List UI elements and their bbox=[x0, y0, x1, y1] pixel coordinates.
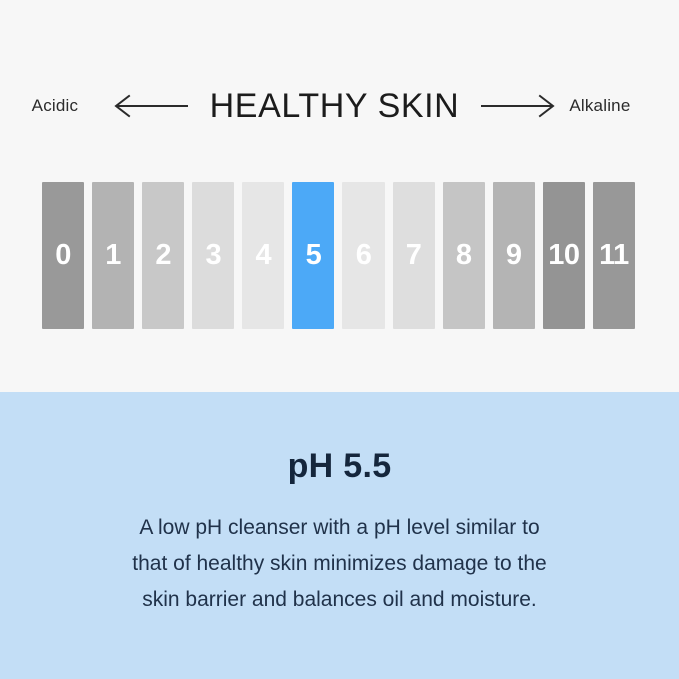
ph-bar-label: 11 bbox=[599, 241, 629, 270]
ph-bar-1[interactable]: 1 bbox=[92, 182, 134, 329]
ph-scale-infographic: Acidic HEALTHY SKIN Alkaline 01234567891… bbox=[0, 0, 679, 679]
ph-bar-label: 5 bbox=[306, 241, 322, 270]
info-panel: pH 5.5 A low pH cleanser with a pH level… bbox=[0, 392, 679, 679]
ph-bar-8[interactable]: 8 bbox=[443, 182, 485, 329]
scale-header: Acidic HEALTHY SKIN Alkaline bbox=[0, 78, 679, 134]
ph-value-title: pH 5.5 bbox=[288, 447, 392, 486]
ph-bar-6[interactable]: 6 bbox=[342, 182, 384, 329]
info-description: A low pH cleanser with a pH level simila… bbox=[50, 510, 630, 618]
ph-bar-7[interactable]: 7 bbox=[393, 182, 435, 329]
ph-bar-label: 10 bbox=[548, 241, 579, 270]
info-description-line: skin barrier and balances oil and moistu… bbox=[50, 582, 630, 618]
ph-scale-strip: 01234567891011 bbox=[42, 182, 635, 329]
ph-bar-label: 0 bbox=[55, 241, 71, 270]
ph-bar-label: 7 bbox=[406, 241, 422, 270]
ph-bar-10[interactable]: 10 bbox=[543, 182, 585, 329]
ph-bar-0[interactable]: 0 bbox=[42, 182, 84, 329]
arrow-right-icon bbox=[481, 93, 557, 119]
ph-bar-5[interactable]: 5 bbox=[292, 182, 334, 329]
ph-bar-label: 1 bbox=[105, 241, 121, 270]
ph-bar-label: 2 bbox=[155, 241, 171, 270]
ph-bar-label: 6 bbox=[356, 241, 372, 270]
ph-bar-label: 4 bbox=[256, 241, 272, 270]
acidic-label: Acidic bbox=[32, 96, 100, 116]
ph-bar-4[interactable]: 4 bbox=[242, 182, 284, 329]
ph-bar-9[interactable]: 9 bbox=[493, 182, 535, 329]
page-title: HEALTHY SKIN bbox=[210, 87, 460, 126]
arrow-left-icon bbox=[112, 93, 188, 119]
ph-bar-label: 3 bbox=[205, 241, 221, 270]
ph-bar-3[interactable]: 3 bbox=[192, 182, 234, 329]
ph-bar-11[interactable]: 11 bbox=[593, 182, 635, 329]
ph-bar-label: 9 bbox=[506, 241, 522, 270]
info-description-line: A low pH cleanser with a pH level simila… bbox=[50, 510, 630, 546]
ph-bar-2[interactable]: 2 bbox=[142, 182, 184, 329]
info-description-line: that of healthy skin minimizes damage to… bbox=[50, 546, 630, 582]
alkaline-label: Alkaline bbox=[569, 96, 647, 116]
ph-bar-label: 8 bbox=[456, 241, 472, 270]
